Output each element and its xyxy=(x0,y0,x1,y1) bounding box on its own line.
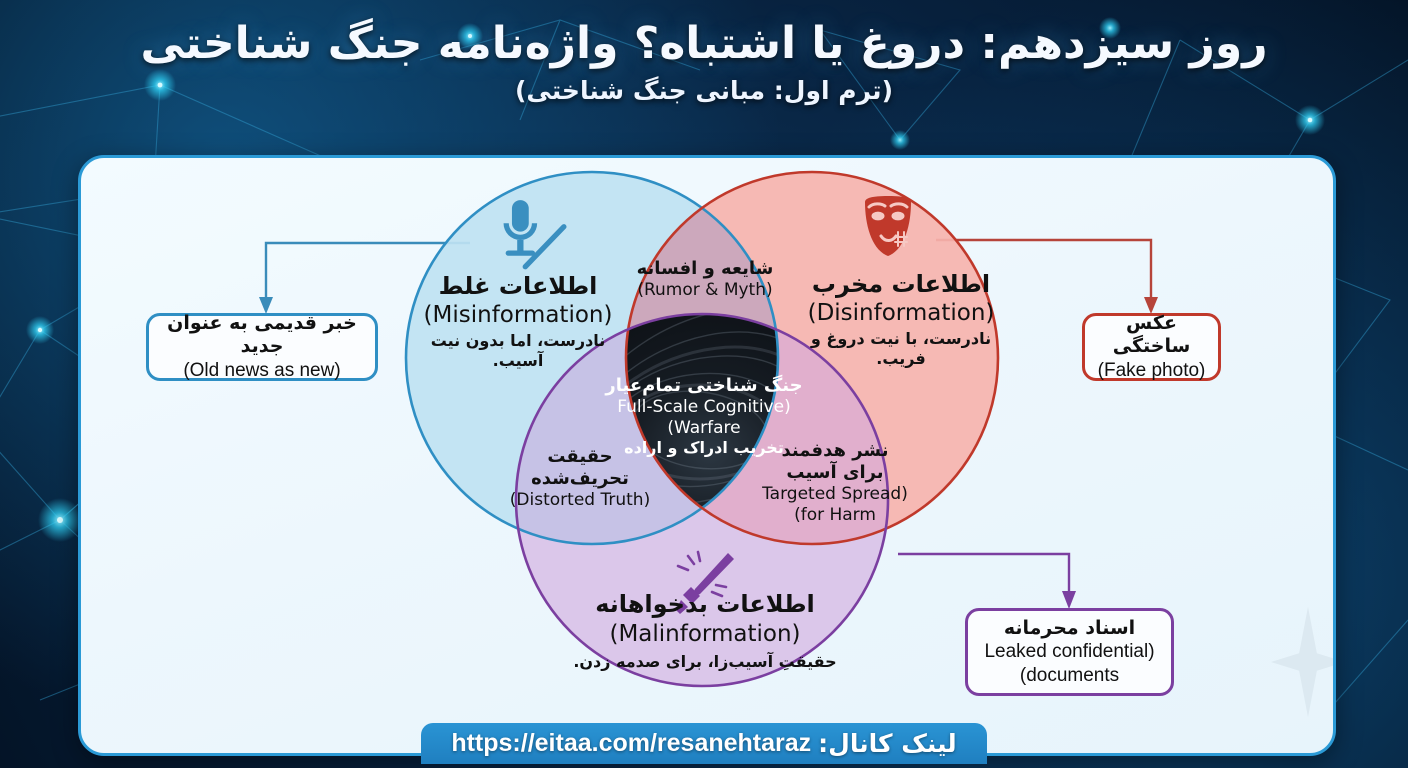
disinformation-en-title: (Disinformation) xyxy=(786,299,1016,327)
callout-leaked-docs-en-line2: documents) xyxy=(1020,664,1119,688)
core-en-title-line2: Warfare) xyxy=(590,418,818,439)
misinformation-fa-title: اطلاعات غلط xyxy=(408,272,628,301)
intersection-top-fa: شایعه و افسانه xyxy=(620,258,790,280)
label-center-core: جنگ شناختی تمام‌عیار (Full-Scale Cogniti… xyxy=(590,375,818,458)
disinformation-fa-title: اطلاعات مخرب xyxy=(786,270,1016,299)
malinformation-fa-title: اطلاعات بدخواهانه xyxy=(580,590,830,619)
core-en-title-line1: (Full-Scale Cognitive xyxy=(590,397,818,418)
core-fa-title: جنگ شناختی تمام‌عیار xyxy=(590,375,818,397)
malinformation-description: حقیقتِ آسیب‌زا، برای صدمه زدن. xyxy=(568,652,842,672)
connector-malinformation xyxy=(898,554,1069,592)
intersection-top-en: (Rumor & Myth) xyxy=(620,280,790,301)
intersection-right-en-line1: (Targeted Spread xyxy=(760,484,910,505)
callout-old-news[interactable]: خبر قدیمی به عنوان جدید (Old news as new… xyxy=(146,313,378,381)
callout-old-news-en: (Old news as new) xyxy=(183,359,340,383)
callout-fake-photo[interactable]: عکس ساختگی (Fake photo) xyxy=(1082,313,1221,381)
intersection-left-en: (Distorted Truth) xyxy=(505,490,655,511)
channel-link-label: لینک کانال: xyxy=(818,729,957,758)
callout-leaked-docs-en-line1: (Leaked confidential xyxy=(984,640,1154,664)
callout-leaked-docs[interactable]: اسناد محرمانه (Leaked confidential docum… xyxy=(965,608,1174,696)
arrow-malinformation-icon xyxy=(1062,591,1076,609)
disinformation-description: نادرست، با نیت دروغ و فریب. xyxy=(786,329,1016,368)
callout-fake-photo-fa: عکس ساختگی xyxy=(1097,312,1206,359)
intersection-left-fa-line2: تحریف‌شده xyxy=(505,468,655,490)
intersection-right-en-line2: for Harm) xyxy=(760,505,910,526)
label-disinformation: اطلاعات مخرب (Disinformation) نادرست، با… xyxy=(786,270,1016,368)
misinformation-en-title: (Misinformation) xyxy=(408,301,628,329)
malinformation-en-title: (Malinformation) xyxy=(580,620,830,648)
callout-old-news-fa: خبر قدیمی به عنوان جدید xyxy=(161,312,363,359)
label-misinformation: اطلاعات غلط (Misinformation) نادرست، اما… xyxy=(408,272,628,370)
intersection-right-fa-line2: برای آسیب xyxy=(760,462,910,484)
channel-link-url[interactable]: https://eitaa.com/resanehtaraz xyxy=(451,729,811,758)
misinformation-description: نادرست، اما بدون نیت آسیب. xyxy=(408,331,628,370)
channel-link-banner[interactable]: لینک کانال: https://eitaa.com/resanehtar… xyxy=(421,723,987,764)
callout-leaked-docs-fa: اسناد محرمانه xyxy=(1004,617,1135,641)
callout-fake-photo-en: (Fake photo) xyxy=(1098,359,1206,383)
core-description: تخریب ادراک و اراده xyxy=(590,438,818,458)
infographic-root: روز سیزدهم: دروغ یا اشتباه؟ واژه‌نامه جن… xyxy=(0,0,1408,768)
label-intersection-top: شایعه و افسانه (Rumor & Myth) xyxy=(620,258,790,301)
